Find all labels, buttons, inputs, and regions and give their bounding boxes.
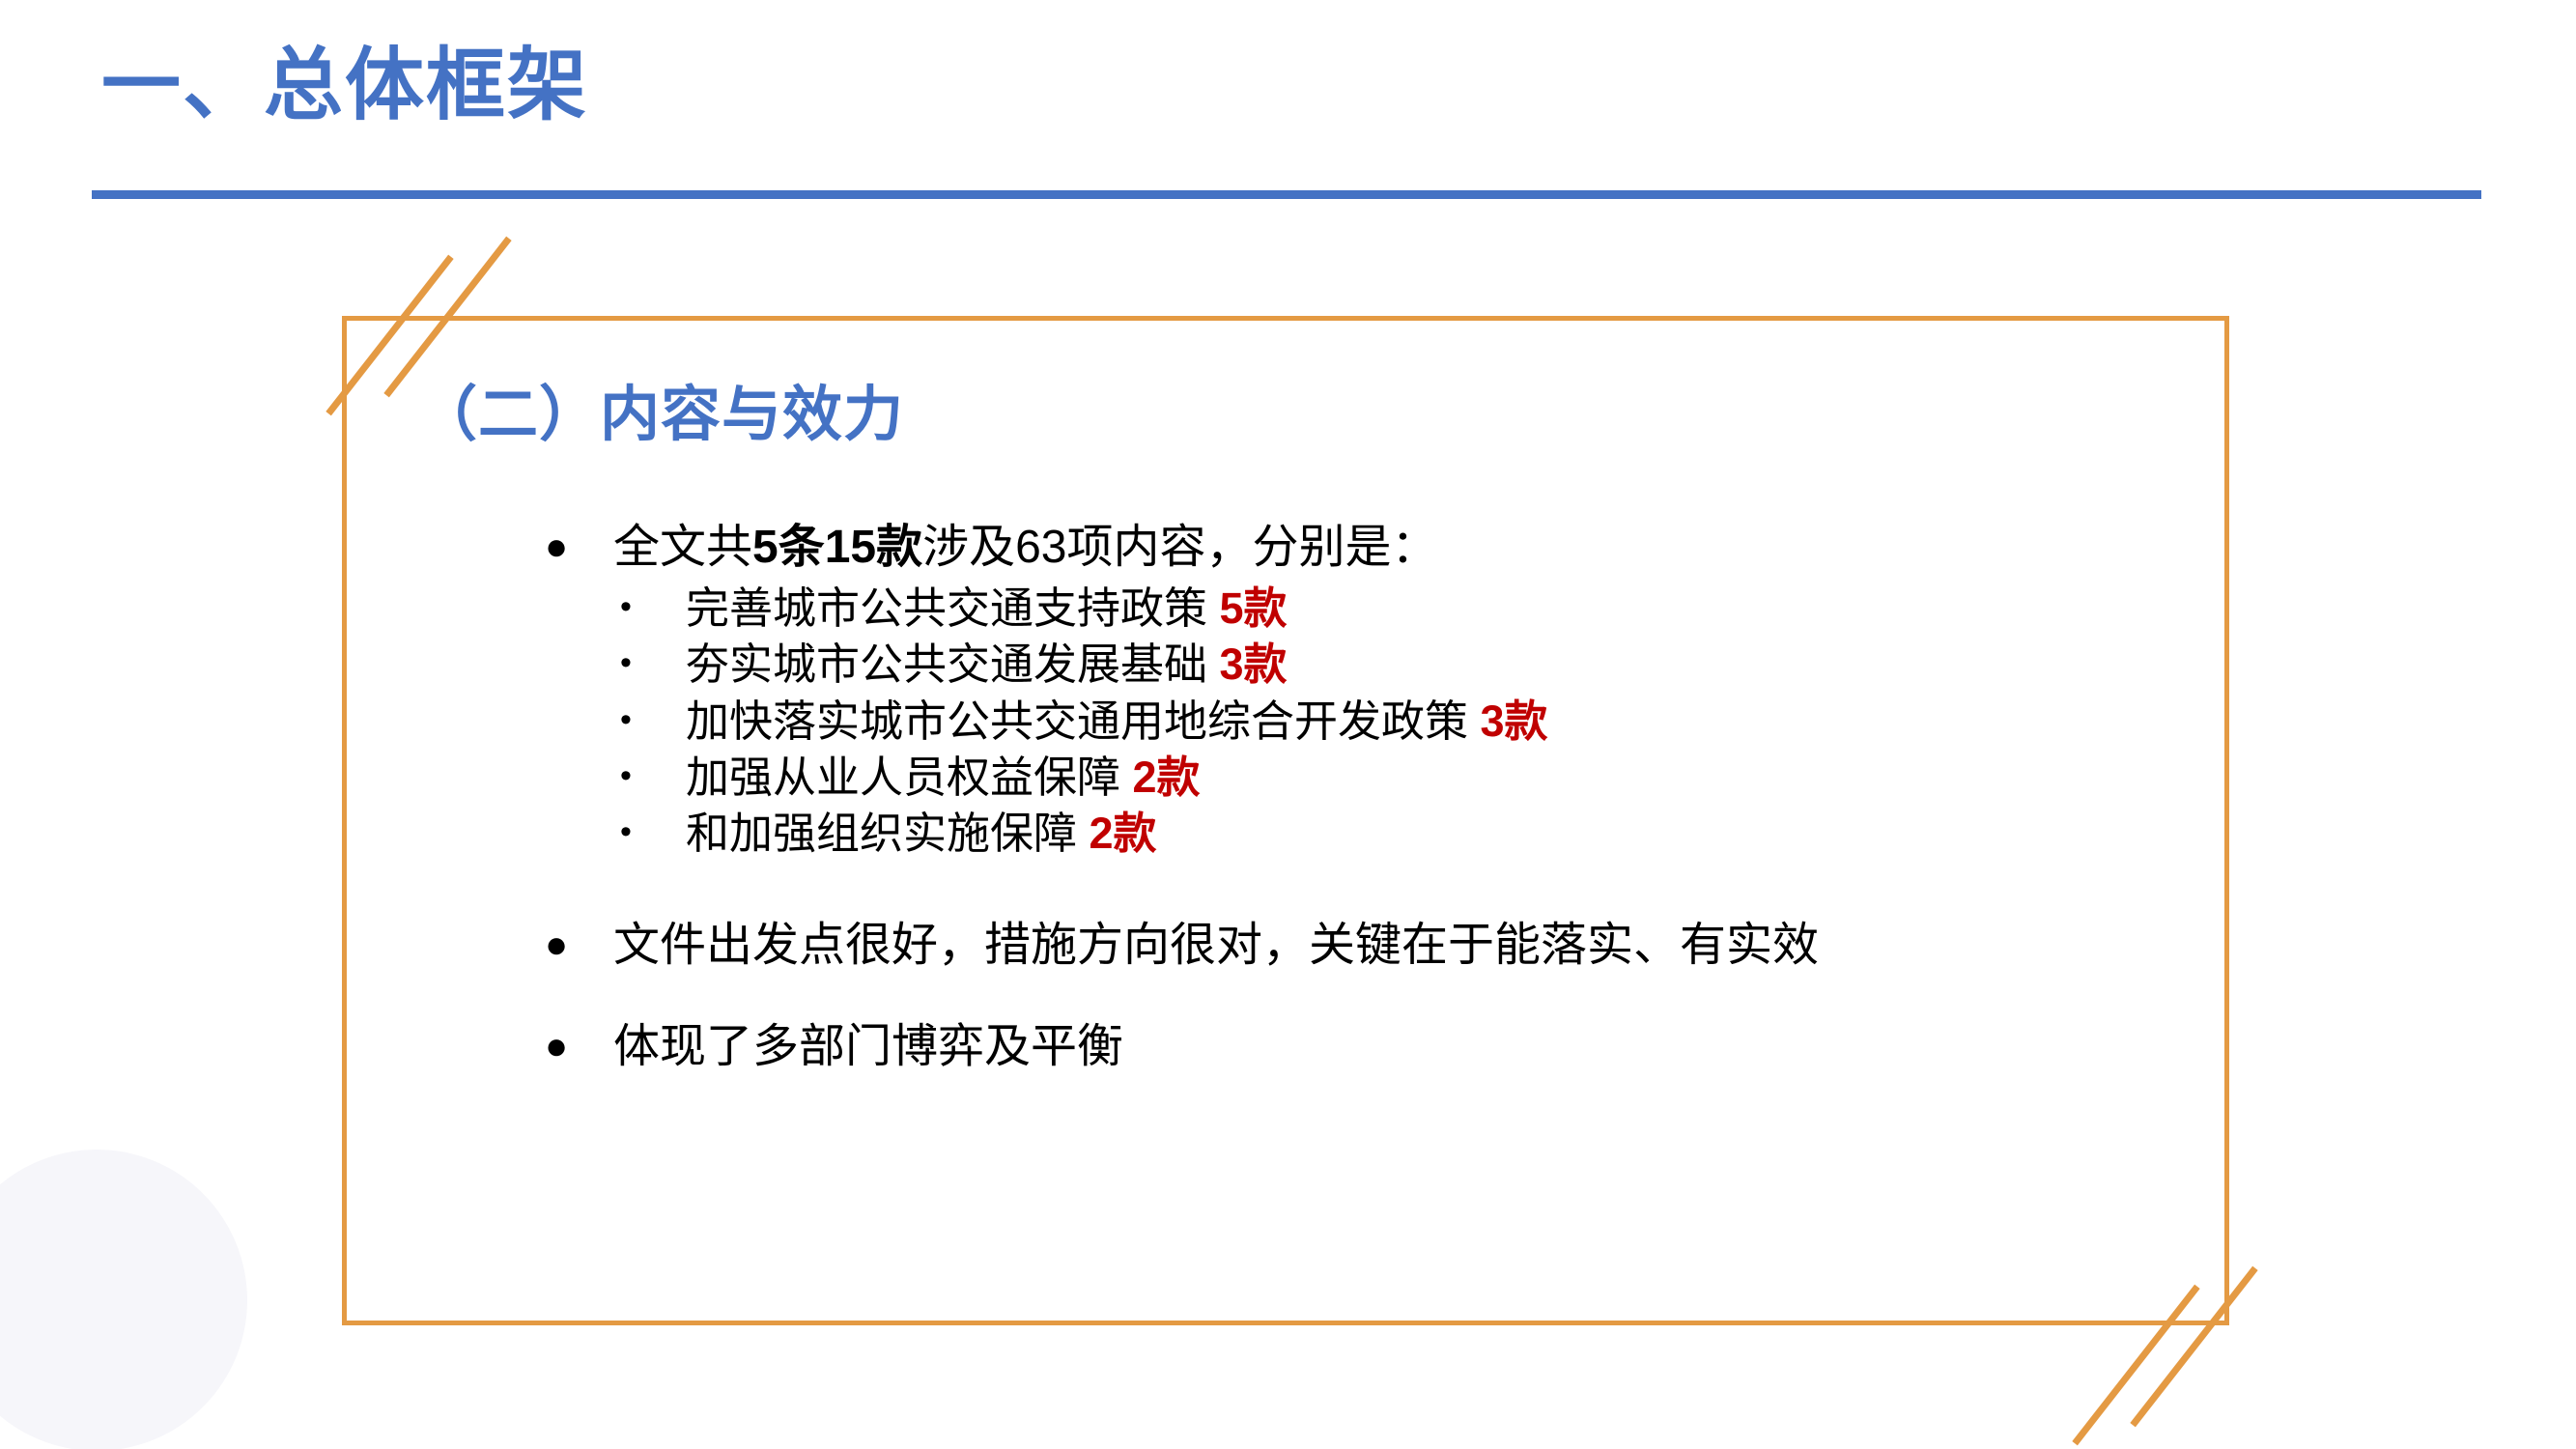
sub-bullet-marker-icon: • [620,750,632,802]
sub-bullet-marker-icon: • [620,581,632,633]
sub-item-text: 完善城市公共交通支持政策 [686,583,1207,633]
sub-item-text: 夯实城市公共交通发展基础 [686,639,1207,689]
sub-bullet-list: • 完善城市公共交通支持政策 5款 • 夯实城市公共交通发展基础 3款 • 加快… [541,581,2183,861]
list-item: ● 全文共5条15款涉及63项内容，分别是： [541,518,2183,577]
section-subheading: （二）内容与效力 [417,365,904,452]
list-item: • 加强从业人员权益保障 2款 [541,750,2183,806]
slide-canvas: 一、总体框架 （二）内容与效力 ● 全文共5条15款涉及63项内容，分别是： •… [0,0,2576,1449]
sub-bullet-marker-icon: • [620,694,632,746]
spacer [541,862,2183,916]
sub-item-text: 加快落实城市公共交通用地综合开发政策 [686,696,1468,746]
bullet-text-emphasis: 5条15款 [752,522,922,573]
page-title: 一、总体框架 [101,37,588,136]
bullet-marker-icon: ● [545,1017,568,1075]
sub-item-count: 3款 [1220,639,1288,689]
sub-bullet-marker-icon: • [620,806,632,858]
decorative-circle [0,1150,247,1449]
bullet-marker-icon: ● [545,518,568,576]
list-item: ● 文件出发点很好，措施方向很对，关键在于能落实、有实效 [541,916,2183,975]
bullet-text-lead: 全文共 [613,522,752,573]
list-item: • 夯实城市公共交通发展基础 3款 [541,637,2183,693]
sub-item-text: 加强从业人员权益保障 [686,753,1120,802]
bullet-text: 文件出发点很好，措施方向很对，关键在于能落实、有实效 [613,920,1819,971]
sub-item-count: 5款 [1220,583,1288,633]
list-item: • 和加强组织实施保障 2款 [541,806,2183,862]
body-content-list: ● 全文共5条15款涉及63项内容，分别是： • 完善城市公共交通支持政策 5款… [541,518,2183,1077]
list-item: • 加快落实城市公共交通用地综合开发政策 3款 [541,694,2183,750]
sub-item-count: 2款 [1090,809,1157,858]
sub-item-count: 2款 [1133,753,1201,802]
bullet-marker-icon: ● [545,916,568,974]
bullet-text: 体现了多部门博弈及平衡 [613,1021,1123,1072]
list-item: • 完善城市公共交通支持政策 5款 [541,581,2183,637]
bullet-text-tail: 涉及63项内容，分别是： [922,522,1437,573]
title-divider-rule [92,190,2481,199]
list-item: ● 体现了多部门博弈及平衡 [541,1017,2183,1076]
sub-bullet-marker-icon: • [620,637,632,689]
sub-item-count: 3款 [1481,696,1548,746]
sub-item-text: 和加强组织实施保障 [686,809,1077,858]
spacer [541,975,2183,1017]
